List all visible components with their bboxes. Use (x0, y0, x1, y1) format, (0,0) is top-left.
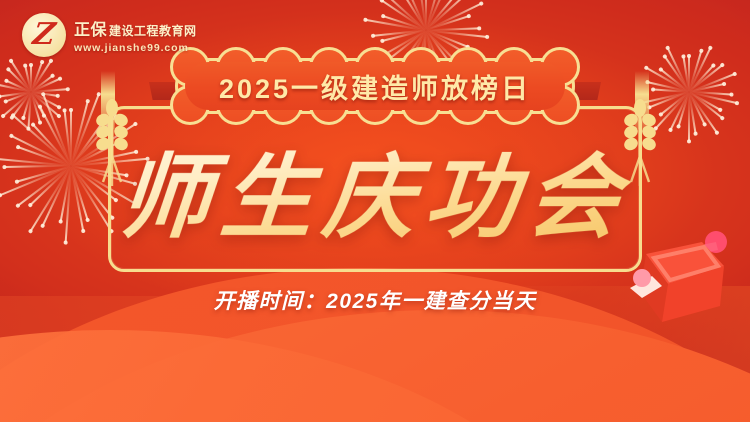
ribbon-banner: 2025一级建造师放榜日 (175, 58, 575, 114)
logo-mark-icon: Z (22, 13, 66, 57)
logo-brand-secondary: 建设工程教育网 (109, 22, 197, 39)
site-logo[interactable]: Z 正保 建设工程教育网 www.jianshe99.com (22, 13, 197, 57)
subtitle-text: 开播时间：2025年一建查分当天 (0, 285, 750, 315)
ribbon-tail-right (575, 82, 601, 100)
logo-brand-line: 正保 建设工程教育网 (74, 16, 197, 40)
logo-brand-primary: 正保 (74, 16, 107, 40)
hero-title: 师生庆功会 (108, 112, 642, 266)
logo-url: www.jianshe99.com (74, 42, 197, 54)
hero-title-text: 师生庆功会 (114, 123, 636, 256)
logo-text-block: 正保 建设工程教育网 www.jianshe99.com (74, 16, 197, 54)
promo-banner: 师生庆功会 2025一级建造师放榜日 开播时间：2025年一建查分当天 Z (0, 0, 750, 422)
firework-top-left-icon (0, 47, 75, 137)
logo-z-letter: Z (31, 20, 57, 50)
ribbon-title-text: 2025一级建造师放榜日 (175, 58, 575, 114)
